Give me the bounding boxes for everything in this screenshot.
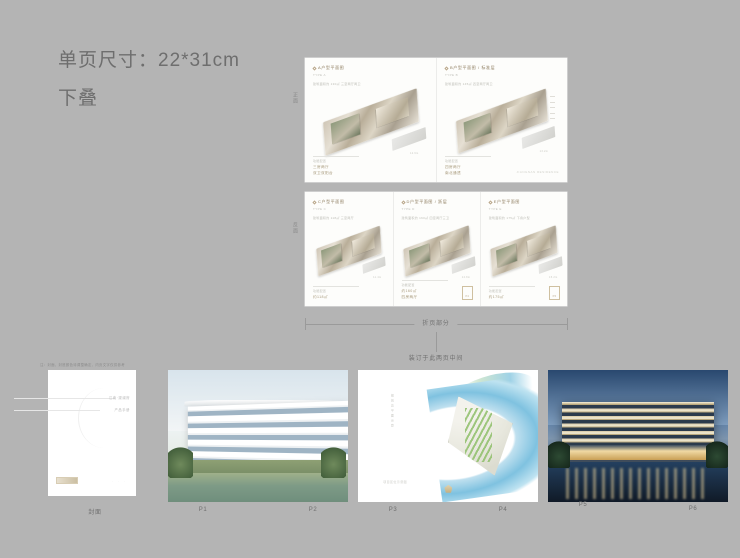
plan-vertical-text: 规划总平面示意 [390,394,394,429]
dimension-label: 11.4m [373,276,381,279]
spread-back[interactable]: 反面 C户型平面图 TYPE C 建筑面积约 118㎡ 三室两厅 11.4m [305,192,567,306]
brand-mark: JIANGNAN RESIDENCE [516,170,559,174]
dimension-label: 15.2m [549,276,557,279]
cover-title-2: 产品手册 [114,407,130,412]
diamond-icon [488,200,492,204]
panel-footer: 功能配置 约118㎡ [313,286,359,301]
side-label-front: 正面 [283,92,299,104]
panel-subtitle: TYPE C [313,207,385,211]
thumbnail-caption: P4 [468,507,538,513]
page-badge: P4 [462,286,473,300]
panel-title: A户型平面图 [318,65,344,71]
panel-header: D户型平面图 / 跃层 [402,199,472,205]
diamond-icon [312,66,316,70]
panel-footer: 功能配置 三房两厅 双卫双阳台 [313,156,359,177]
panel-header: C户型平面图 [313,199,385,205]
panel-title: B户型平面图 / 标准层 [450,65,495,71]
thumbnail-caption: P1 [168,507,238,513]
thumbnail-photo-day[interactable]: P1 P2 [168,370,348,502]
floorplan-render: 12.6m [321,93,421,151]
plan-frame: 规划总平面示意 项目区位示意图 [358,370,538,502]
panel-description: 建筑面积约 130㎡ 三室两厅两卫 [313,82,428,86]
title-line-fold: 下叠 [58,86,240,112]
diamond-icon [401,200,405,204]
panel-description: 建筑面积约 145㎡ 四室两厅两卫 [445,82,559,86]
cover-title-1: 江南·观澜府 [109,395,130,400]
panel-header: A户型平面图 [313,65,428,71]
floorplan-render: 14.8m [402,227,472,275]
panel-footer: 功能配置 四房两厅 南北通透 [445,156,491,177]
tick-marks [550,96,555,119]
panel-description: 建筑面积约 160㎡ 四室两厅三卫 [402,216,472,220]
panel-subtitle: TYPE E [489,207,559,211]
thumbnail-cover[interactable]: 注：封面、封底颜色待调整确定，内页文字仅供参考 江南·观澜府 产品手册 · · … [40,370,150,496]
binding-leader-line [436,332,437,352]
photo-frame [548,370,728,502]
thumbnail-caption: 封面 [40,507,150,516]
floorplan-render: 15.2m [489,227,559,275]
panel-title: D户型平面图 / 跃层 [407,199,448,205]
cover-sheet[interactable]: 江南·观澜府 产品手册 · · · [48,370,136,496]
page-badge: P6 [549,286,560,300]
thumbnail-caption: P2 [278,507,348,513]
dimension-label: 14.8m [462,276,470,279]
title-line-size: 单页尺寸：22*31cm [58,48,240,74]
building-daylight-image [168,370,348,502]
panel-header: E户型平面图 [489,199,559,205]
dimension-label: 13.2m [540,150,548,153]
thumbnail-caption: P5 [548,502,618,508]
dimension-label: 12.6m [410,152,418,155]
thumbnail-photo-dusk[interactable]: P5 P6 [548,370,728,502]
building-dusk-image [548,370,728,502]
cover-note: 注：封面、封底颜色待调整确定，内页文字仅供参考 [40,362,125,367]
canvas-root: 单页尺寸：22*31cm 下叠 正面 A户型平面图 TYPE A 建筑面积约 1… [0,0,740,558]
floorplan-panel[interactable]: E户型平面图 TYPE E 建筑面积约 175㎡ 下叠户型 15.2m 功能配置… [480,192,567,306]
thumbnail-site-plan[interactable]: 规划总平面示意 项目区位示意图 P3 P4 [358,370,538,502]
masterplan-image: 规划总平面示意 项目区位示意图 [358,370,538,502]
photo-frame [168,370,348,502]
cover-logo [56,477,78,484]
binding-note: 装订于此两页中间 [409,353,463,362]
side-label-back: 反面 [283,222,299,234]
panel-description: 建筑面积约 175㎡ 下叠户型 [489,216,559,220]
cover-dots: · · · [112,479,127,483]
fold-label: 折页部分 [414,318,457,327]
panel-subtitle: TYPE D [402,207,472,211]
fold-bracket: 折页部分 [305,318,567,332]
thumbnail-row: 注：封面、封底颜色待调整确定，内页文字仅供参考 江南·观澜府 产品手册 · · … [0,370,740,530]
floorplan-panel[interactable]: A户型平面图 TYPE A 建筑面积约 130㎡ 三室两厅两卫 12.6m 功能… [305,58,436,182]
plan-foot-text: 项目区位示意图 [383,480,407,484]
diamond-icon [444,66,448,70]
thumbnail-caption: P3 [358,507,428,513]
floorplan-render: 13.2m [454,93,550,149]
panel-title: C户型平面图 [318,199,345,205]
floorplan-panel[interactable]: D户型平面图 / 跃层 TYPE D 建筑面积约 160㎡ 四室两厅三卫 14.… [393,192,480,306]
diamond-icon [312,200,316,204]
thumbnail-caption: P6 [658,506,728,512]
spread-stack: 正面 A户型平面图 TYPE A 建筑面积约 130㎡ 三室两厅两卫 12.6m [305,58,567,306]
panel-title: E户型平面图 [494,199,520,205]
panel-subtitle: TYPE B [445,73,559,77]
floorplan-render: 11.4m [315,227,383,275]
floorplan-panel[interactable]: B户型平面图 / 标准层 TYPE B 建筑面积约 145㎡ 四室两厅两卫 13… [436,58,567,182]
panel-footer: 功能配置 约160㎡ 四房两厅 [402,280,448,301]
panel-footer: 功能配置 约175㎡ [489,286,535,301]
page-title: 单页尺寸：22*31cm 下叠 [58,48,240,112]
floorplan-panel[interactable]: C户型平面图 TYPE C 建筑面积约 118㎡ 三室两厅 11.4m 功能配置… [305,192,393,306]
panel-subtitle: TYPE A [313,73,428,77]
panel-header: B户型平面图 / 标准层 [445,65,559,71]
panel-description: 建筑面积约 118㎡ 三室两厅 [313,216,385,220]
spread-front[interactable]: 正面 A户型平面图 TYPE A 建筑面积约 130㎡ 三室两厅两卫 12.6m [305,58,567,182]
